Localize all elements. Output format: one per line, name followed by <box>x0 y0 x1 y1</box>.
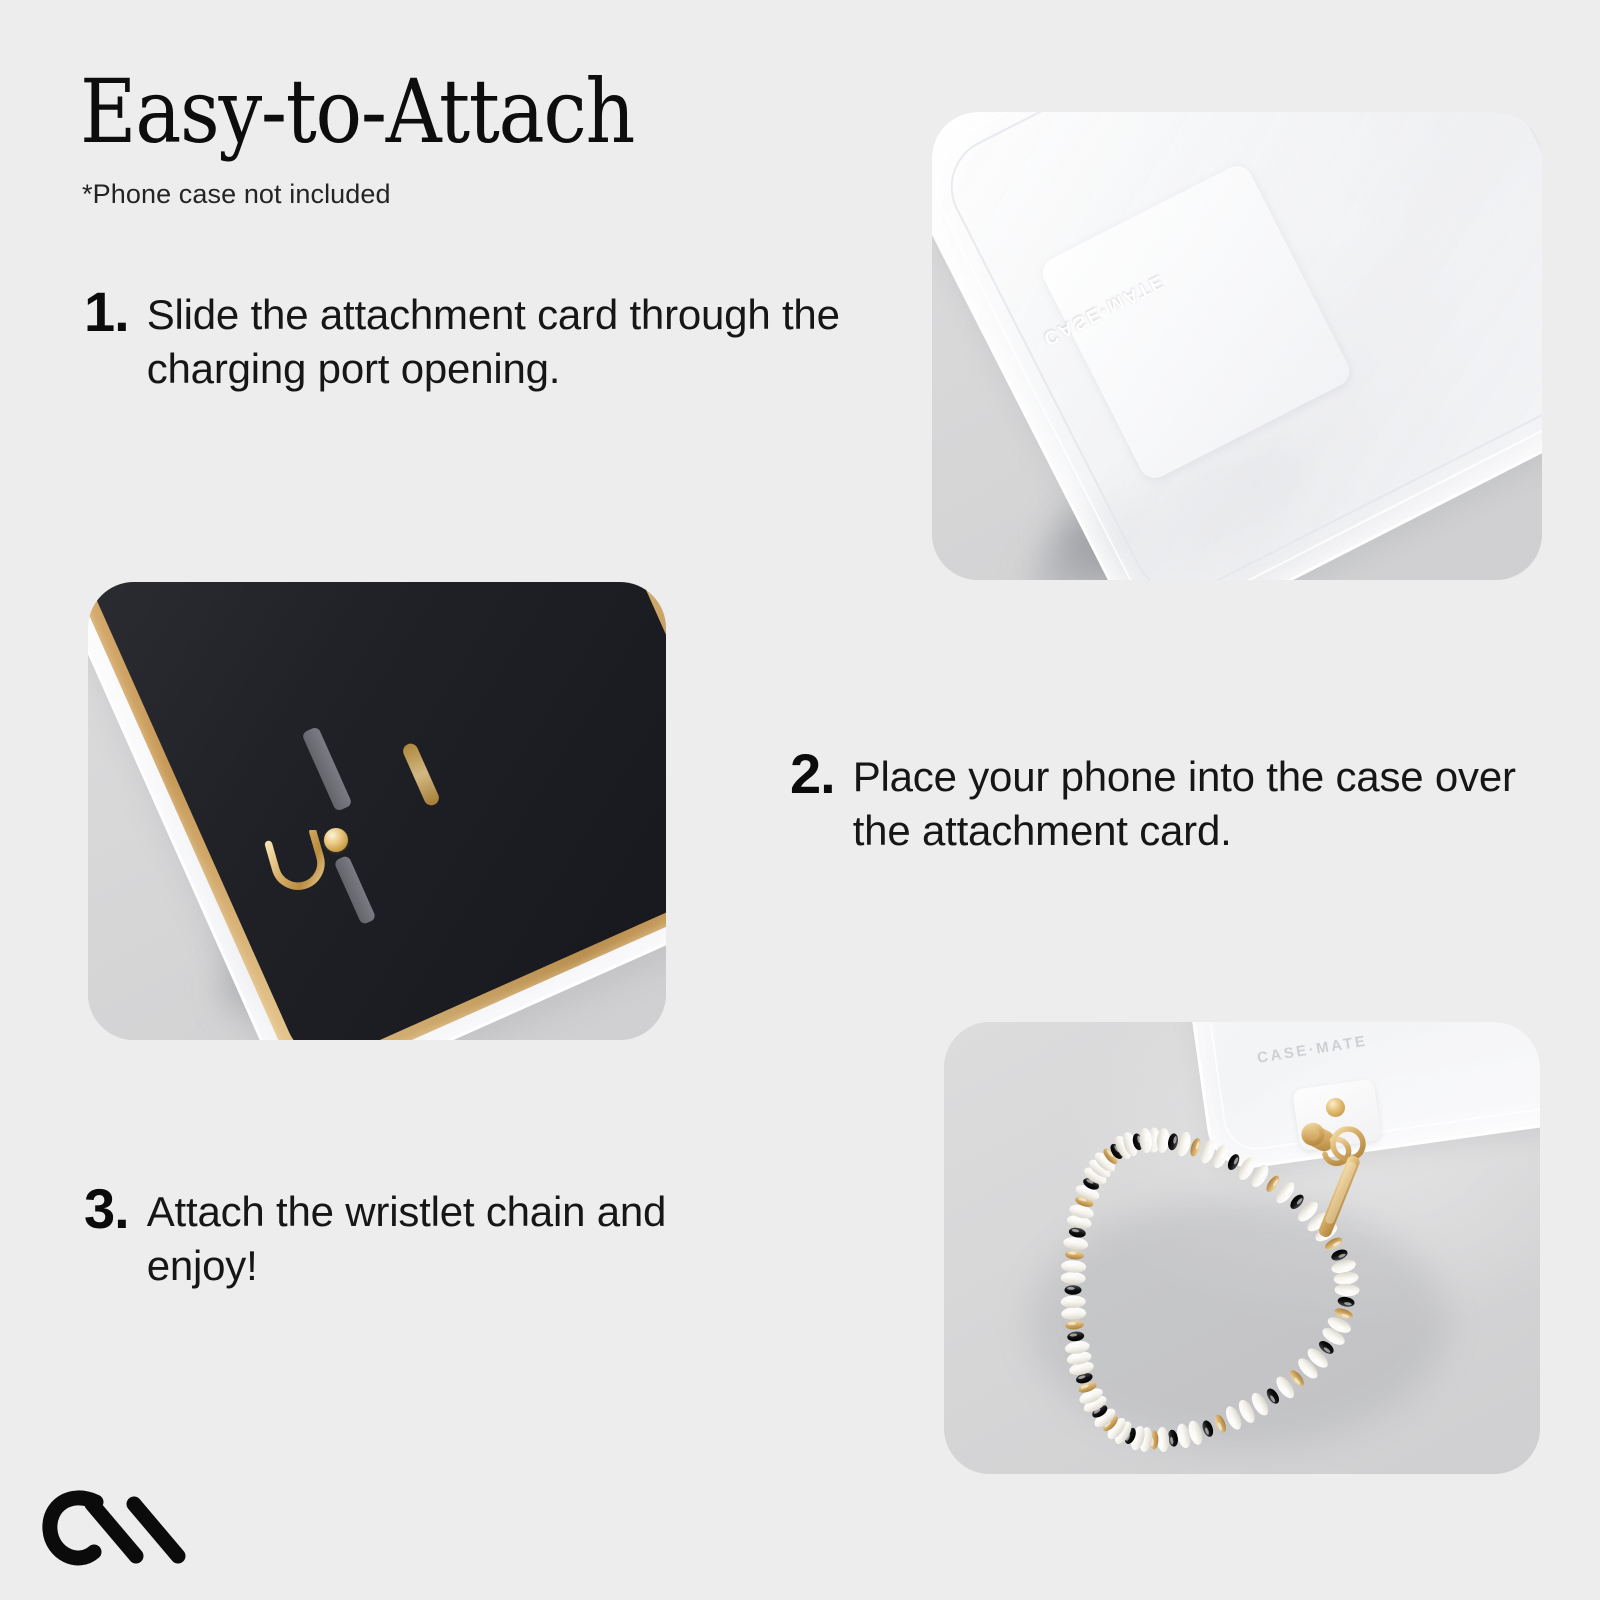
disclaimer-text: *Phone case not included <box>82 180 391 210</box>
infographic-canvas: Easy-to-Attach *Phone case not included … <box>0 0 1600 1600</box>
bead-black <box>1264 1386 1281 1405</box>
page-title: Easy-to-Attach <box>80 68 634 156</box>
gold-d-ring-icon <box>262 830 336 904</box>
product-photo-step-1: CASE·MATE <box>932 112 1542 580</box>
bead-white <box>1061 1295 1086 1308</box>
step-number-2: 2. <box>790 745 853 802</box>
step-item-1: 1. Slide the attachment card through the… <box>84 283 904 396</box>
bead-white <box>1061 1307 1087 1321</box>
bead-white <box>1062 1236 1088 1252</box>
step-item-3: 3. Attach the wristlet chain and enjoy! <box>84 1180 784 1293</box>
bead-layer <box>1060 1127 1359 1452</box>
bead-gold <box>1065 1250 1085 1261</box>
bead-black <box>1064 1285 1081 1295</box>
bead-white <box>1060 1272 1085 1285</box>
product-photo-step-2 <box>88 582 666 1040</box>
step-text-1: Slide the attachment card through the ch… <box>147 283 904 396</box>
bead-gold <box>1213 1413 1228 1434</box>
bead-white <box>1334 1283 1359 1296</box>
bead-white <box>1061 1260 1087 1274</box>
step-text-3: Attach the wristlet chain and enjoy! <box>147 1180 784 1293</box>
bead-gold <box>1065 1320 1085 1330</box>
bead-black <box>1200 1419 1215 1438</box>
step-number-1: 1. <box>84 283 147 340</box>
bead-black <box>1226 1152 1242 1171</box>
product-photo-step-3: CASE·MATE <box>944 1022 1540 1474</box>
beaded-wristlet-chain <box>944 1022 1540 1474</box>
gold-bar-charm <box>1317 1154 1361 1239</box>
step-item-2: 2. Place your phone into the case over t… <box>790 745 1550 858</box>
step-text-2: Place your phone into the case over the … <box>853 745 1550 858</box>
bead-black <box>1337 1296 1355 1308</box>
bead-black <box>1067 1331 1085 1342</box>
step-number-3: 3. <box>84 1180 147 1237</box>
bead-white <box>1175 1130 1193 1157</box>
case-mate-logo <box>40 1478 190 1582</box>
